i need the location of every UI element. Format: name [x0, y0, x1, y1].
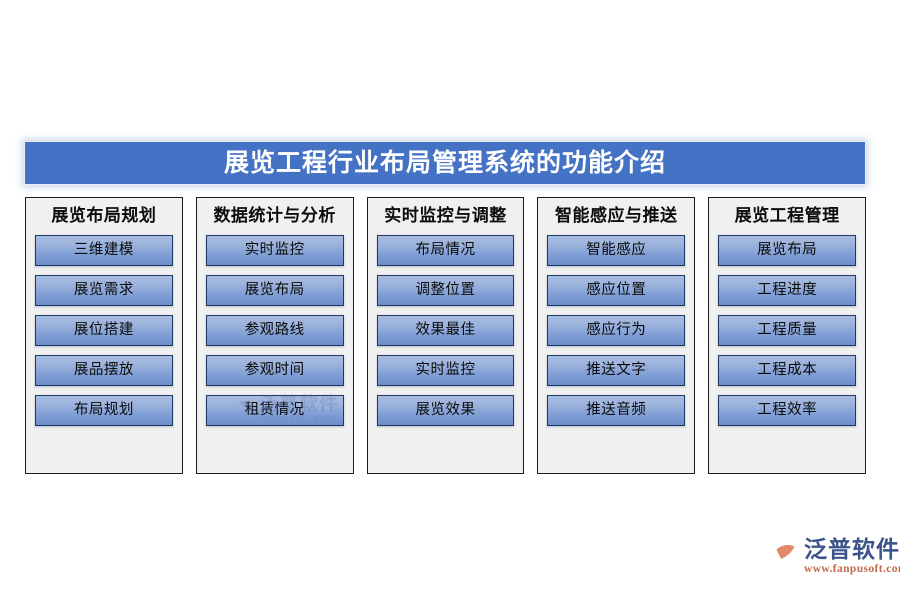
column-panel-2: 数据统计与分析 实时监控 展览布局 参观路线 参观时间 租赁情况 — [196, 197, 354, 474]
feature-item[interactable]: 展览效果 — [377, 395, 515, 426]
feature-item[interactable]: 感应行为 — [547, 315, 685, 346]
feature-item[interactable]: 推送音频 — [547, 395, 685, 426]
column-panel-4: 智能感应与推送 智能感应 感应位置 感应行为 推送文字 推送音频 — [537, 197, 695, 474]
column-panel-1: 展览布局规划 三维建模 展览需求 展位搭建 展品摆放 布局规划 — [25, 197, 183, 474]
column-item-list-1: 三维建模 展览需求 展位搭建 展品摆放 布局规划 — [26, 235, 182, 426]
feature-item[interactable]: 展品摆放 — [35, 355, 173, 386]
feature-item[interactable]: 参观路线 — [206, 315, 344, 346]
feature-item[interactable]: 实时监控 — [377, 355, 515, 386]
feature-item[interactable]: 智能感应 — [547, 235, 685, 266]
column-header-5: 展览工程管理 — [735, 207, 840, 224]
feature-columns: 展览布局规划 三维建模 展览需求 展位搭建 展品摆放 布局规划 数据统计与分析 … — [25, 197, 866, 474]
feature-item[interactable]: 布局规划 — [35, 395, 173, 426]
feature-item[interactable]: 参观时间 — [206, 355, 344, 386]
title-banner: 展览工程行业布局管理系统的功能介绍 — [24, 141, 866, 185]
feature-item[interactable]: 工程成本 — [718, 355, 856, 386]
feature-item[interactable]: 三维建模 — [35, 235, 173, 266]
feature-item[interactable]: 展览需求 — [35, 275, 173, 306]
column-item-list-3: 布局情况 调整位置 效果最佳 实时监控 展览效果 — [368, 235, 524, 426]
feature-item[interactable]: 租赁情况 — [206, 395, 344, 426]
column-panel-5: 展览工程管理 展览布局 工程进度 工程质量 工程成本 工程效率 — [708, 197, 866, 474]
feature-item[interactable]: 展位搭建 — [35, 315, 173, 346]
feature-item[interactable]: 实时监控 — [206, 235, 344, 266]
column-item-list-4: 智能感应 感应位置 感应行为 推送文字 推送音频 — [538, 235, 694, 426]
feature-item[interactable]: 工程进度 — [718, 275, 856, 306]
page-title: 展览工程行业布局管理系统的功能介绍 — [224, 151, 666, 176]
feature-item[interactable]: 展览布局 — [206, 275, 344, 306]
column-item-list-5: 展览布局 工程进度 工程质量 工程成本 工程效率 — [709, 235, 865, 426]
fanpu-logo-icon — [763, 540, 799, 574]
brand-name-cn: 泛普软件 — [804, 538, 900, 561]
feature-item[interactable]: 效果最佳 — [377, 315, 515, 346]
column-header-1: 展览布局规划 — [51, 207, 156, 224]
column-item-list-2: 实时监控 展览布局 参观路线 参观时间 租赁情况 — [197, 235, 353, 426]
column-panel-3: 实时监控与调整 布局情况 调整位置 效果最佳 实时监控 展览效果 — [367, 197, 525, 474]
feature-item[interactable]: 工程效率 — [718, 395, 856, 426]
brand-logo-text: 泛普软件 www.fanpusoft.com — [804, 538, 900, 576]
feature-item[interactable]: 调整位置 — [377, 275, 515, 306]
feature-item[interactable]: 展览布局 — [718, 235, 856, 266]
column-header-3: 实时监控与调整 — [384, 207, 507, 224]
feature-item[interactable]: 工程质量 — [718, 315, 856, 346]
feature-item[interactable]: 布局情况 — [377, 235, 515, 266]
feature-item[interactable]: 推送文字 — [547, 355, 685, 386]
column-header-2: 数据统计与分析 — [213, 207, 336, 224]
feature-item[interactable]: 感应位置 — [547, 275, 685, 306]
brand-url: www.fanpusoft.com — [804, 564, 900, 576]
column-header-4: 智能感应与推送 — [555, 207, 678, 224]
brand-logo: 泛普软件 www.fanpusoft.com — [763, 538, 900, 576]
slide-canvas: 展览工程行业布局管理系统的功能介绍 展览布局规划 三维建模 展览需求 展位搭建 … — [0, 0, 900, 600]
